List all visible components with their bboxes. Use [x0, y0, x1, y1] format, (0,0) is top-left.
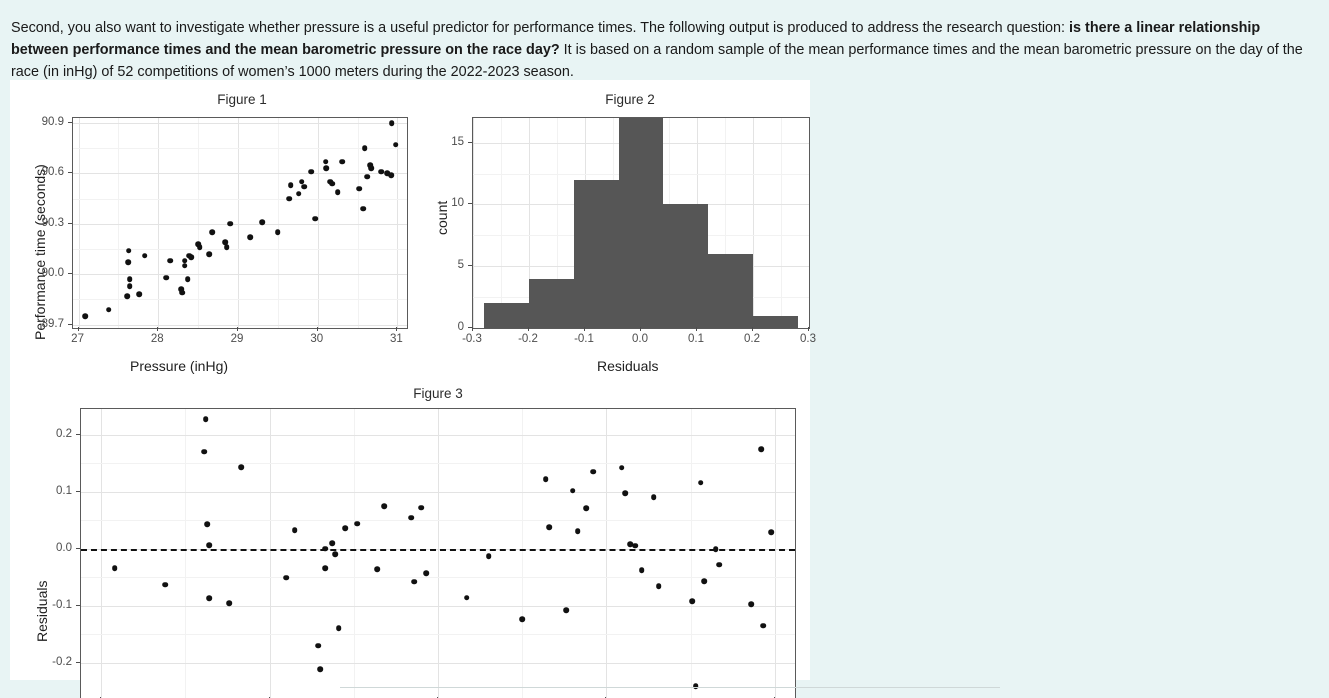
data-point: [179, 290, 185, 296]
data-point: [362, 145, 368, 151]
y-tick-mark: [68, 172, 72, 173]
data-point: [759, 447, 765, 453]
data-point: [651, 495, 657, 501]
y-tick-label: 5: [458, 259, 464, 271]
y-tick-mark: [468, 203, 472, 204]
y-tick-label: 0.1: [56, 485, 72, 497]
gridline-horizontal-minor: [81, 463, 795, 464]
data-point: [381, 504, 387, 510]
data-point: [418, 505, 424, 511]
data-point: [423, 570, 429, 576]
data-point: [127, 283, 133, 289]
histogram-bar: [753, 316, 798, 328]
gridline-horizontal: [81, 663, 795, 664]
data-point: [317, 666, 323, 672]
figure-2: Figure 2 count Residuals -0.3-0.2-0.10.0…: [420, 80, 810, 380]
y-tick-label: 0: [458, 321, 464, 333]
data-point: [126, 248, 132, 254]
data-point: [701, 578, 707, 584]
gridline-horizontal-minor: [73, 199, 407, 200]
figure-3-title: Figure 3: [80, 386, 796, 401]
x-tick-label: 29: [231, 333, 244, 345]
data-point: [313, 216, 319, 222]
data-point: [356, 186, 362, 192]
data-point: [575, 528, 581, 534]
data-point: [188, 255, 194, 261]
y-tick-label: -0.2: [52, 656, 72, 668]
data-point: [393, 142, 399, 148]
x-tick-mark: [752, 327, 753, 331]
x-tick-label: -0.3: [462, 333, 482, 345]
y-tick-mark: [76, 434, 80, 435]
data-point: [590, 469, 596, 475]
data-point: [224, 245, 230, 251]
histogram-bar: [529, 279, 574, 328]
data-point: [226, 601, 232, 607]
figure-1-y-axis-title: Performance time (seconds): [32, 164, 48, 340]
y-tick-mark: [76, 548, 80, 549]
x-tick-label: -0.1: [574, 333, 594, 345]
gridline-horizontal: [81, 606, 795, 607]
y-tick-label: 90.0: [42, 267, 64, 279]
y-tick-label: 0.2: [56, 428, 72, 440]
data-point: [316, 643, 322, 649]
figure-1-title: Figure 1: [72, 92, 412, 107]
data-point: [360, 206, 366, 212]
data-point: [125, 260, 131, 266]
data-point: [247, 234, 253, 240]
data-point: [288, 182, 294, 188]
figure-1: Figure 1 Performance time (seconds) Pres…: [10, 80, 430, 380]
data-point: [698, 480, 704, 486]
data-point: [301, 184, 307, 190]
x-tick-mark: [528, 327, 529, 331]
data-point: [292, 528, 298, 534]
gridline-horizontal: [73, 123, 407, 124]
y-tick-mark: [468, 265, 472, 266]
x-tick-mark: [396, 327, 397, 331]
data-point: [656, 583, 662, 589]
gridline-horizontal: [81, 435, 795, 436]
data-point: [142, 253, 148, 259]
histogram-bar: [484, 303, 529, 328]
gridline-horizontal-minor: [81, 634, 795, 635]
data-point: [205, 521, 211, 527]
data-point: [309, 169, 315, 175]
data-point: [689, 598, 695, 604]
y-tick-mark: [68, 122, 72, 123]
data-point: [238, 464, 244, 470]
gridline-horizontal: [73, 325, 407, 326]
x-tick-mark: [808, 327, 809, 331]
data-point: [570, 488, 576, 494]
data-point: [713, 546, 719, 552]
question-paragraph: Second, you also want to investigate whe…: [11, 18, 1317, 84]
data-point: [106, 307, 112, 313]
data-point: [563, 607, 569, 613]
data-point: [583, 505, 589, 511]
y-tick-mark: [76, 491, 80, 492]
x-tick-mark: [584, 327, 585, 331]
figure-1-x-axis-title: Pressure (inHg): [130, 358, 228, 374]
x-tick-label: 0.3: [800, 333, 816, 345]
data-point: [632, 543, 638, 549]
data-point: [716, 562, 722, 568]
zero-reference-line: [81, 549, 795, 551]
data-point: [412, 579, 418, 585]
x-tick-mark: [317, 327, 318, 331]
x-tick-mark: [696, 327, 697, 331]
data-point: [136, 292, 142, 298]
data-point: [201, 449, 207, 455]
y-tick-mark: [76, 605, 80, 606]
data-point: [354, 521, 360, 527]
data-point: [343, 525, 349, 531]
data-point: [464, 595, 470, 601]
data-point: [546, 524, 552, 530]
data-point: [322, 546, 328, 552]
gridline-horizontal-minor: [81, 520, 795, 521]
data-point: [197, 245, 203, 251]
gridline-vertical-minor: [691, 409, 692, 698]
y-tick-label: 90.3: [42, 217, 64, 229]
histogram-bar: [663, 204, 708, 328]
x-tick-mark: [640, 327, 641, 331]
gridline-horizontal-minor: [73, 249, 407, 250]
x-tick-label: 0.2: [744, 333, 760, 345]
data-point: [332, 552, 338, 558]
x-tick-label: 31: [390, 333, 403, 345]
x-tick-mark: [472, 327, 473, 331]
y-tick-label: 10: [451, 197, 464, 209]
data-point: [336, 626, 342, 632]
data-point: [388, 172, 394, 178]
gridline-horizontal-minor: [73, 148, 407, 149]
data-point: [748, 601, 754, 607]
data-point: [210, 229, 216, 235]
y-tick-label: 89.7: [42, 318, 64, 330]
data-point: [185, 276, 191, 282]
data-point: [760, 623, 766, 629]
data-point: [639, 568, 645, 574]
data-point: [207, 251, 213, 257]
gridline-horizontal: [73, 173, 407, 174]
paragraph-part-1: Second, you also want to investigate whe…: [11, 20, 1069, 36]
y-tick-label: 90.9: [42, 116, 64, 128]
x-tick-label: 0.0: [632, 333, 648, 345]
gridline-horizontal: [81, 492, 795, 493]
x-tick-label: 27: [71, 333, 84, 345]
data-point: [375, 566, 381, 572]
figure-2-x-axis-title: Residuals: [597, 358, 658, 374]
y-tick-label: 15: [451, 136, 464, 148]
x-tick-label: 28: [151, 333, 164, 345]
figure-3-y-axis-title: Residuals: [34, 581, 50, 642]
data-point: [182, 263, 188, 269]
y-tick-mark: [68, 324, 72, 325]
gridline-horizontal-minor: [81, 577, 795, 578]
y-tick-label: 90.6: [42, 166, 64, 178]
y-tick-mark: [76, 662, 80, 663]
y-tick-mark: [68, 223, 72, 224]
data-point: [296, 191, 302, 197]
data-point: [335, 189, 341, 195]
data-point: [486, 553, 492, 559]
gridline-vertical-minor: [522, 409, 523, 698]
data-point: [329, 540, 335, 546]
data-point: [259, 219, 265, 225]
data-point: [206, 595, 212, 601]
x-tick-mark: [78, 327, 79, 331]
data-point: [329, 181, 335, 187]
data-point: [368, 166, 374, 172]
figure-2-title: Figure 2: [450, 92, 810, 107]
gridline-vertical-minor: [354, 409, 355, 698]
x-tick-label: 30: [310, 333, 323, 345]
x-tick-label: 0.1: [688, 333, 704, 345]
data-point: [162, 582, 168, 588]
data-point: [203, 416, 209, 422]
data-point: [408, 515, 414, 521]
histogram-bar: [619, 118, 664, 328]
y-tick-mark: [468, 327, 472, 328]
data-point: [275, 229, 281, 235]
x-tick-label: -0.2: [518, 333, 538, 345]
figure-2-plot-area: [472, 117, 810, 329]
data-point: [127, 276, 133, 282]
data-point: [622, 491, 628, 497]
data-point: [227, 221, 233, 227]
y-tick-mark: [468, 142, 472, 143]
data-point: [286, 196, 292, 202]
data-point: [124, 293, 130, 299]
data-point: [163, 275, 169, 281]
histogram-bar: [708, 254, 753, 328]
histogram-bar: [574, 180, 619, 328]
data-point: [323, 159, 329, 165]
gridline-horizontal: [73, 224, 407, 225]
gridline-vertical: [606, 409, 607, 698]
gridline-vertical: [775, 409, 776, 698]
page-root: Second, you also want to investigate whe…: [0, 0, 1329, 698]
data-point: [82, 313, 88, 319]
data-point: [543, 476, 549, 482]
data-point: [769, 529, 775, 535]
gridline-vertical: [809, 118, 810, 328]
x-tick-mark: [237, 327, 238, 331]
data-point: [167, 258, 173, 264]
data-point: [364, 174, 370, 180]
figure-3-plot-area: [80, 408, 796, 698]
x-tick-mark: [157, 327, 158, 331]
gridline-horizontal: [73, 274, 407, 275]
data-point: [389, 120, 395, 126]
data-point: [324, 166, 330, 172]
bottom-divider: [340, 687, 1000, 688]
figure-2-y-axis-title: count: [434, 201, 450, 235]
data-point: [340, 159, 346, 165]
data-point: [112, 565, 118, 571]
data-point: [284, 575, 290, 581]
gridline-horizontal-minor: [73, 299, 407, 300]
data-point: [206, 542, 212, 548]
gridline-vertical: [101, 409, 102, 698]
data-point: [519, 617, 525, 623]
y-tick-mark: [68, 273, 72, 274]
y-tick-label: -0.1: [52, 599, 72, 611]
output-card: Figure 1 Performance time (seconds) Pres…: [10, 80, 810, 680]
gridline-vertical: [270, 409, 271, 698]
y-tick-label: 0.0: [56, 542, 72, 554]
figure-3: Figure 3 Residuals Pressure (inHg) 27282…: [10, 380, 810, 670]
data-point: [322, 565, 328, 571]
figure-1-plot-area: [72, 117, 408, 329]
gridline-vertical: [438, 409, 439, 698]
gridline-vertical-minor: [185, 409, 186, 698]
gridline-horizontal: [473, 328, 809, 329]
data-point: [619, 465, 625, 471]
